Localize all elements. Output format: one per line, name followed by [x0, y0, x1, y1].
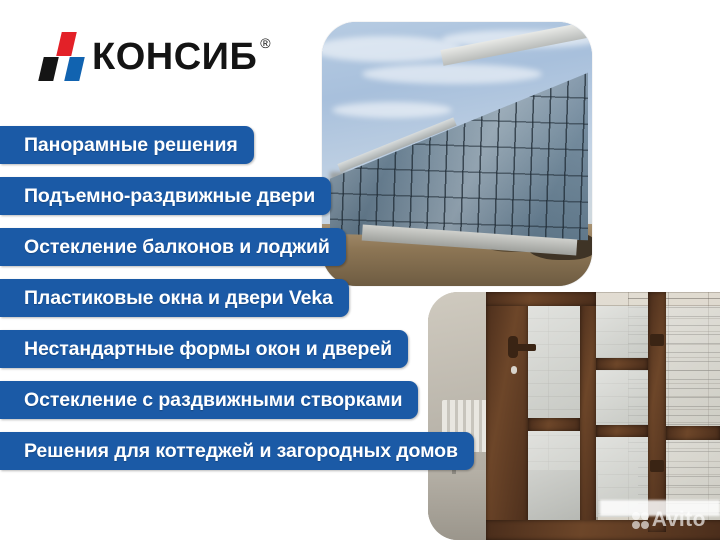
- banner-label: Остекление балконов и лоджий: [24, 236, 330, 259]
- avito-dots-icon: [632, 512, 649, 529]
- advertisement-canvas: КОНСИБ ®: [0, 0, 720, 540]
- banner-item[interactable]: Пластиковые окна и двери Veka: [0, 279, 349, 317]
- banner-item[interactable]: Панорамные решения: [0, 126, 254, 164]
- banner-label: Решения для коттеджей и загородных домов: [24, 440, 458, 463]
- mark-shape-black: [38, 57, 59, 81]
- konsib-mark-icon: [38, 31, 86, 83]
- mark-shape-red: [56, 32, 77, 56]
- avito-watermark: Avito: [632, 508, 706, 532]
- banner-item[interactable]: Нестандартные формы окон и дверей: [0, 330, 408, 368]
- banner-label: Нестандартные формы окон и дверей: [24, 338, 392, 361]
- banner-item[interactable]: Решения для коттеджей и загородных домов: [0, 432, 474, 470]
- banner-item[interactable]: Остекление с раздвижными створками: [0, 381, 418, 419]
- registered-trademark-icon: ®: [260, 35, 270, 51]
- brand-logo: КОНСИБ ®: [38, 28, 288, 86]
- banner-label: Пластиковые окна и двери Veka: [24, 287, 333, 310]
- banner-item[interactable]: Подъемно-раздвижные двери: [0, 177, 331, 215]
- feature-banner-list: Панорамные решения Подъемно-раздвижные д…: [0, 126, 720, 483]
- cloud: [332, 102, 452, 118]
- mark-shape-blue: [64, 57, 85, 81]
- banner-label: Панорамные решения: [24, 134, 238, 157]
- banner-label: Остекление с раздвижными створками: [24, 389, 402, 412]
- brand-name: КОНСИБ: [92, 38, 257, 76]
- banner-item[interactable]: Остекление балконов и лоджий: [0, 228, 346, 266]
- cloud: [362, 64, 542, 84]
- avito-wordmark: Avito: [652, 508, 706, 532]
- banner-label: Подъемно-раздвижные двери: [24, 185, 315, 208]
